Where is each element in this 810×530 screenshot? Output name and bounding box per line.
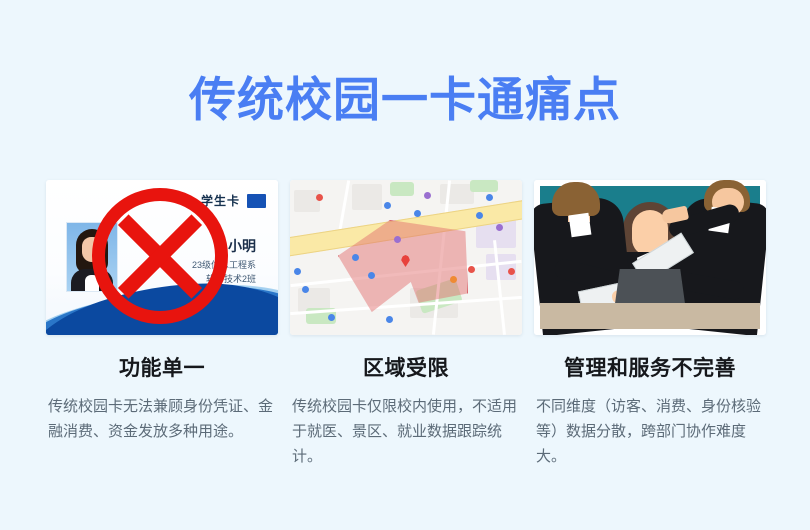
map-poi-dot xyxy=(302,286,309,293)
map-poi-dot xyxy=(450,276,457,283)
map-block xyxy=(352,184,382,210)
map-park-area xyxy=(390,182,414,196)
prohibition-cross-icon xyxy=(92,188,228,324)
card-description-function-single: 传统校园卡无法兼顾身份凭证、金融消费、资金发放多种用途。 xyxy=(48,394,276,444)
student-card-header-block-icon xyxy=(247,194,266,208)
map-poi-dot xyxy=(316,194,323,201)
map-thumbnail xyxy=(290,180,522,335)
map-poi-dot xyxy=(328,314,335,321)
pain-point-card-area-limited: 区域受限 传统校园卡仅限校内使用，不适用于就医、景区、就业数据跟踪统计。 xyxy=(290,180,522,469)
map-poi-dot xyxy=(496,224,503,231)
map-illustration xyxy=(290,180,522,335)
map-poi-dot xyxy=(468,266,475,273)
map-park-area xyxy=(470,180,498,192)
map-poi-dot xyxy=(386,316,393,323)
map-poi-dot xyxy=(476,212,483,219)
map-poi-dot xyxy=(352,254,359,261)
map-poi-dot xyxy=(424,192,431,199)
colleague-left-head xyxy=(552,182,600,216)
pain-point-card-list: 学生卡 小明 23级信息工程系 软件技术2班 功能单一 传统校园卡无法兼顾身份凭 xyxy=(46,180,766,469)
office-illustration xyxy=(534,180,766,335)
card-description-area-limited: 传统校园卡仅限校内使用，不适用于就医、景区、就业数据跟踪统计。 xyxy=(292,394,520,469)
map-block xyxy=(294,190,320,212)
office-desk xyxy=(540,303,760,329)
student-card-header: 学生卡 xyxy=(201,192,266,209)
pain-point-card-management-service: 管理和服务不完善 不同维度（访客、消费、身份核验等）数据分散，跨部门协作难度大。 xyxy=(534,180,766,469)
pain-point-card-function-single: 学生卡 小明 23级信息工程系 软件技术2班 功能单一 传统校园卡无法兼顾身份凭 xyxy=(46,180,278,469)
student-name: 小明 xyxy=(228,236,256,256)
office-thumbnail xyxy=(534,180,766,335)
map-poi-dot xyxy=(384,202,391,209)
card-title-management-service: 管理和服务不完善 xyxy=(564,357,736,380)
map-block-purple xyxy=(486,254,516,280)
student-card-illustration: 学生卡 小明 23级信息工程系 软件技术2班 xyxy=(46,180,278,335)
map-poi-dot xyxy=(414,210,421,217)
card-description-management-service: 不同维度（访客、消费、身份核验等）数据分散，跨部门协作难度大。 xyxy=(536,394,764,469)
map-poi-dot xyxy=(508,268,515,275)
map-poi-dot xyxy=(486,194,493,201)
map-poi-dot xyxy=(368,272,375,279)
colleague-left-collar xyxy=(569,213,592,238)
student-card-thumbnail: 学生卡 小明 23级信息工程系 软件技术2班 xyxy=(46,180,278,335)
card-title-area-limited: 区域受限 xyxy=(363,357,449,380)
map-poi-dot xyxy=(394,236,401,243)
page-title: 传统校园一卡通痛点 xyxy=(0,76,810,123)
map-poi-dot xyxy=(294,268,301,275)
card-title-function-single: 功能单一 xyxy=(119,357,205,380)
